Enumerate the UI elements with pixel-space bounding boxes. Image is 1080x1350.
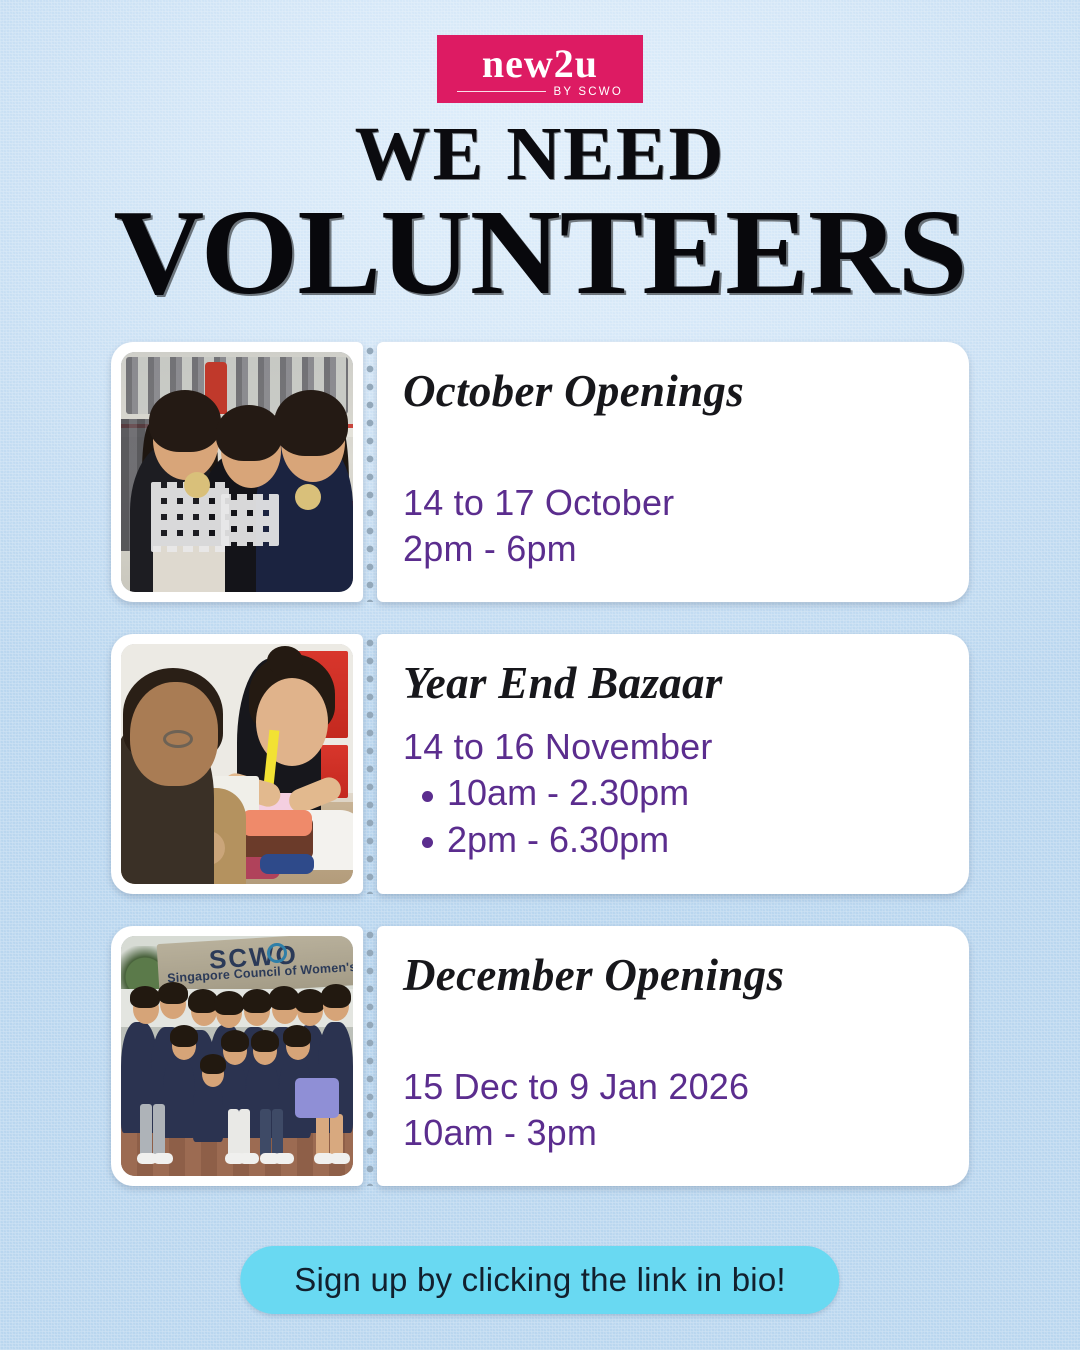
logo-byline: BY SCWO [553, 86, 623, 98]
event-body: 14 to 17 October 2pm - 6pm [403, 480, 939, 582]
headline-line-1: WE NEED [0, 118, 1080, 191]
event-time-list: 10am - 2.30pm 2pm - 6.30pm [403, 770, 939, 864]
page-title: WE NEED VOLUNTEERS [0, 118, 1080, 313]
event-photo-card: 50% off [111, 634, 363, 894]
event-photo-card [111, 342, 363, 602]
photo-group-of-volunteers-under-scwo-sign: SCWO Singapore Council of Women's Organi… [121, 936, 353, 1176]
event-detail-card: December Openings 15 Dec to 9 Jan 2026 1… [377, 926, 969, 1186]
event-row-december: SCWO Singapore Council of Women's Organi… [111, 926, 969, 1186]
logo-rule [457, 91, 546, 92]
logo-wordmark: new2u [482, 45, 598, 83]
event-title: December Openings [403, 952, 939, 999]
logo-byline-row: BY SCWO [457, 86, 623, 98]
event-times: 2pm - 6pm [403, 526, 939, 572]
volunteer-recruitment-poster: new2u BY SCWO WE NEED VOLUNTEERS [0, 0, 1080, 1350]
event-detail-card: October Openings 14 to 17 October 2pm - … [377, 342, 969, 602]
event-dates: 14 to 17 October [403, 480, 939, 526]
perforation-divider [363, 342, 377, 602]
perforation-divider [363, 926, 377, 1186]
signup-cta-label: Sign up by clicking the link in bio! [294, 1261, 785, 1298]
event-title: October Openings [403, 368, 939, 415]
photo-three-volunteers-in-thrift-store [121, 352, 353, 592]
event-row-year-end-bazaar: 50% off [111, 634, 969, 894]
event-list: October Openings 14 to 17 October 2pm - … [0, 342, 1080, 1218]
event-body: 15 Dec to 9 Jan 2026 10am - 3pm [403, 1064, 939, 1166]
event-dates: 15 Dec to 9 Jan 2026 [403, 1064, 939, 1110]
event-times: 10am - 3pm [403, 1110, 939, 1156]
event-title: Year End Bazaar [403, 660, 939, 707]
signup-cta-button[interactable]: Sign up by clicking the link in bio! [240, 1246, 839, 1314]
perforation-divider [363, 634, 377, 894]
event-row-october: October Openings 14 to 17 October 2pm - … [111, 342, 969, 602]
event-body: 14 to 16 November 10am - 2.30pm 2pm - 6.… [403, 724, 939, 874]
photo-volunteer-sorting-clothes-at-bazaar: 50% off [121, 644, 353, 884]
new2u-logo: new2u BY SCWO [437, 35, 643, 103]
event-photo-card: SCWO Singapore Council of Women's Organi… [111, 926, 363, 1186]
event-dates: 14 to 16 November [403, 724, 939, 770]
list-item: 10am - 2.30pm [447, 770, 939, 817]
headline-line-2: VOLUNTEERS [0, 193, 1080, 313]
list-item: 2pm - 6.30pm [447, 817, 939, 864]
event-detail-card: Year End Bazaar 14 to 16 November 10am -… [377, 634, 969, 894]
